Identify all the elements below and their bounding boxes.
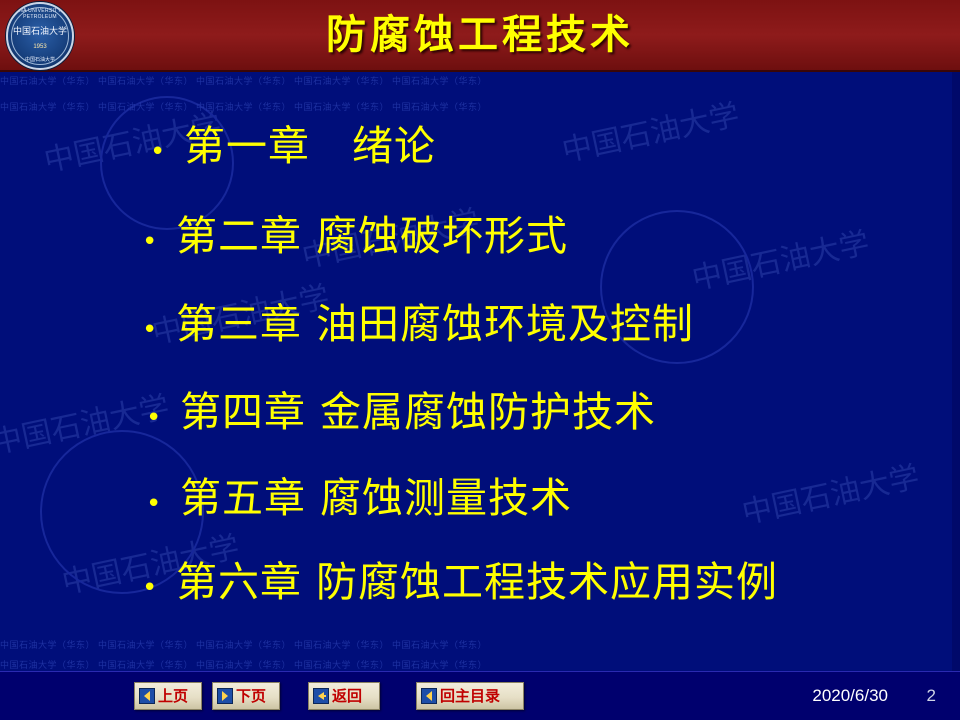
- list-item-label: 第五章 腐蚀测量技术: [180, 464, 572, 524]
- list-item: • 第三章 油田腐蚀环境及控制: [142, 290, 960, 350]
- list-item-label: 第四章 金属腐蚀防护技术: [180, 378, 656, 438]
- bullet-marker-icon: •: [142, 229, 176, 255]
- back-label: 返回: [332, 689, 362, 704]
- watermark-line: 中国石油大学（华东） 中国石油大学（华东） 中国石油大学（华东） 中国石油大学（…: [0, 638, 960, 651]
- list-item-label: 第二章 腐蚀破坏形式: [176, 202, 568, 262]
- main-menu-button[interactable]: 回主目录: [416, 682, 524, 710]
- logo-top-text: CHINA UNIVERSITY OF PETROLEUM: [8, 8, 72, 20]
- bullet-marker-icon: •: [146, 405, 180, 431]
- watermark-line: 中国石油大学（华东） 中国石油大学（华东） 中国石油大学（华东） 中国石油大学（…: [0, 74, 960, 87]
- next-page-label: 下页: [236, 689, 266, 704]
- footer-bar: 上页 下页 返回: [0, 671, 960, 720]
- back-arrow-icon: [313, 688, 329, 704]
- main-menu-label: 回主目录: [440, 689, 500, 704]
- slide: 中国石油大学 中国石油大学 中国石油大学 中国石油大学 中国石油大学 中国石油大…: [0, 0, 960, 720]
- prev-page-icon: [139, 688, 155, 704]
- next-page-icon: [217, 688, 233, 704]
- university-logo-icon: CHINA UNIVERSITY OF PETROLEUM 中国石油大学 195…: [6, 2, 74, 70]
- list-item: • 第四章 金属腐蚀防护技术: [146, 378, 960, 438]
- list-item: • 第一章 绪论: [150, 112, 960, 172]
- logo-center-text: 中国石油大学: [8, 24, 72, 37]
- home-menu-icon: [421, 688, 437, 704]
- page-number: 2: [927, 686, 936, 706]
- title-bar: 防腐蚀工程技术: [0, 0, 960, 72]
- bullet-list: • 第一章 绪论 • 第二章 腐蚀破坏形式 • 第三章 油田腐蚀环境及控制 • …: [150, 112, 960, 608]
- prev-page-label: 上页: [158, 689, 188, 704]
- list-item: • 第五章 腐蚀测量技术: [146, 464, 960, 524]
- bullet-marker-icon: •: [142, 575, 176, 601]
- bullet-marker-icon: •: [146, 491, 180, 517]
- logo-year: 1953: [8, 44, 72, 50]
- footer-date: 2020/6/30: [812, 686, 888, 706]
- prev-page-button[interactable]: 上页: [134, 682, 202, 710]
- list-item-label: 第一章 绪论: [184, 112, 436, 172]
- page-title: 防腐蚀工程技术: [0, 0, 960, 70]
- next-page-button[interactable]: 下页: [212, 682, 280, 710]
- bullet-marker-icon: •: [150, 139, 184, 165]
- list-item-label: 第六章 防腐蚀工程技术应用实例: [176, 548, 778, 608]
- list-item: • 第六章 防腐蚀工程技术应用实例: [142, 548, 960, 608]
- logo-bottom-text: 中国石油大学: [8, 56, 72, 63]
- back-button[interactable]: 返回: [308, 682, 380, 710]
- watermark-line: 中国石油大学（华东） 中国石油大学（华东） 中国石油大学（华东） 中国石油大学（…: [0, 658, 960, 671]
- list-item-label: 第三章 油田腐蚀环境及控制: [176, 290, 694, 350]
- list-item: • 第二章 腐蚀破坏形式: [142, 202, 960, 262]
- bullet-marker-icon: •: [142, 317, 176, 343]
